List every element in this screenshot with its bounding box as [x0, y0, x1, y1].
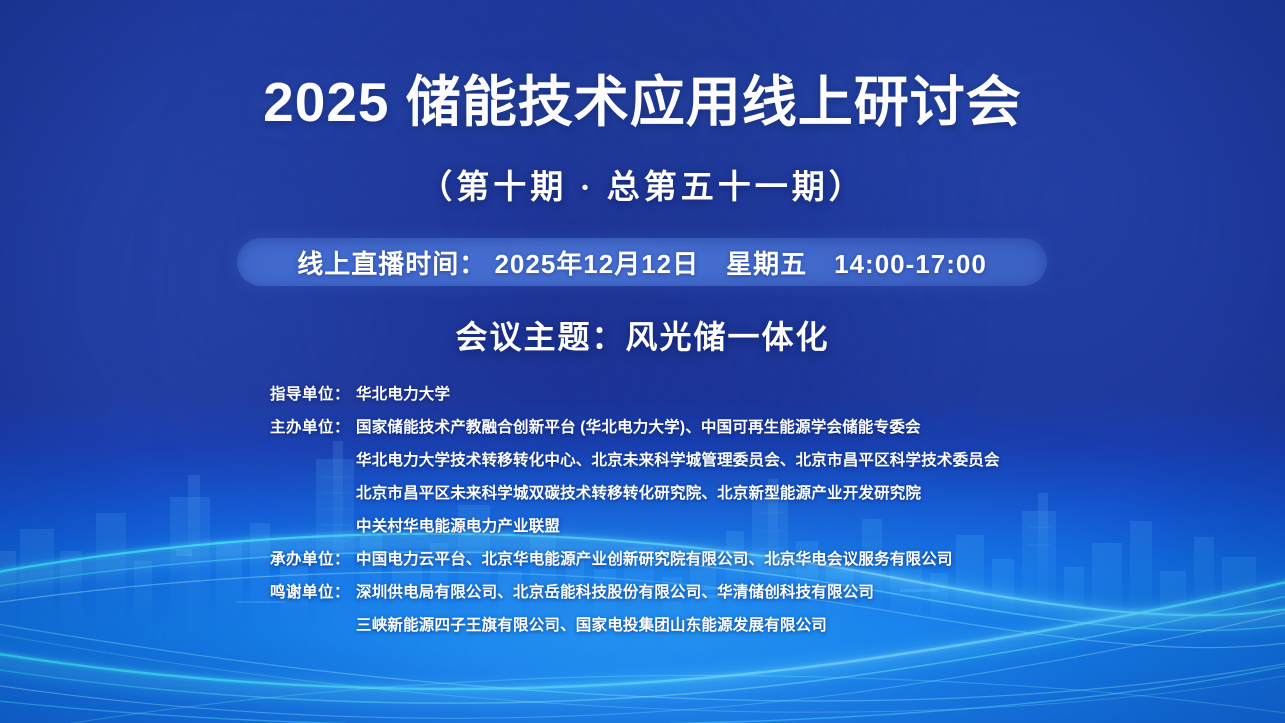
organization-row: 鸣谢单位：深圳供电局有限公司、北京岳能科技股份有限公司、华清储创科技有限公司	[120, 580, 1165, 613]
organization-row: 承办单位：中国电力云平台、北京华电能源产业创新研究院有限公司、北京华电会议服务有…	[120, 547, 1165, 580]
webinar-poster: 2025 储能技术应用线上研讨会 （第十期 · 总第五十一期） 线上直播时间： …	[0, 0, 1285, 723]
organizations-list: 指导单位：华北电力大学主办单位：国家储能技术产教融合创新平台 (华北电力大学)、…	[120, 382, 1165, 646]
organization-row: 鸣谢单位：三峡新能源四子王旗有限公司、国家电投集团山东能源发展有限公司	[120, 613, 1165, 646]
organization-row: 主办单位：国家储能技术产教融合创新平台 (华北电力大学)、中国可再生能源学会储能…	[120, 415, 1165, 448]
page-title: 2025 储能技术应用线上研讨会	[0, 72, 1285, 133]
page-subtitle: （第十期 · 总第五十一期）	[0, 160, 1285, 208]
organization-value: 中关村华电能源电力产业联盟	[350, 514, 560, 536]
organization-label: 承办单位：	[120, 547, 350, 569]
organization-row: 主办单位：中关村华电能源电力产业联盟	[120, 514, 1165, 547]
conference-theme: 会议主题：风光储一体化	[0, 312, 1285, 358]
organization-value: 华北电力大学	[350, 382, 450, 404]
live-time-text: 线上直播时间： 2025年12月12日 星期五 14:00-17:00	[297, 244, 987, 281]
organization-value: 深圳供电局有限公司、北京岳能科技股份有限公司、华清储创科技有限公司	[350, 580, 874, 602]
organization-label: 主办单位：	[120, 415, 350, 437]
organization-value: 三峡新能源四子王旗有限公司、国家电投集团山东能源发展有限公司	[350, 613, 827, 635]
organization-value: 国家储能技术产教融合创新平台 (华北电力大学)、中国可再生能源学会储能专委会	[350, 415, 921, 437]
organization-row: 主办单位：华北电力大学技术转移转化中心、北京未来科学城管理委员会、北京市昌平区科…	[120, 448, 1165, 481]
organization-value: 北京市昌平区未来科学城双碳技术转移转化研究院、北京新型能源产业开发研究院	[350, 481, 921, 503]
organization-row: 指导单位：华北电力大学	[120, 382, 1165, 415]
live-time-banner: 线上直播时间： 2025年12月12日 星期五 14:00-17:00	[237, 238, 1047, 286]
poster-content: 2025 储能技术应用线上研讨会 （第十期 · 总第五十一期） 线上直播时间： …	[0, 0, 1285, 723]
organization-label: 鸣谢单位：	[120, 580, 350, 602]
organization-value: 华北电力大学技术转移转化中心、北京未来科学城管理委员会、北京市昌平区科学技术委员…	[350, 448, 1000, 470]
organization-row: 主办单位：北京市昌平区未来科学城双碳技术转移转化研究院、北京新型能源产业开发研究…	[120, 481, 1165, 514]
organization-value: 中国电力云平台、北京华电能源产业创新研究院有限公司、北京华电会议服务有限公司	[350, 547, 953, 569]
organization-label: 指导单位：	[120, 382, 350, 404]
